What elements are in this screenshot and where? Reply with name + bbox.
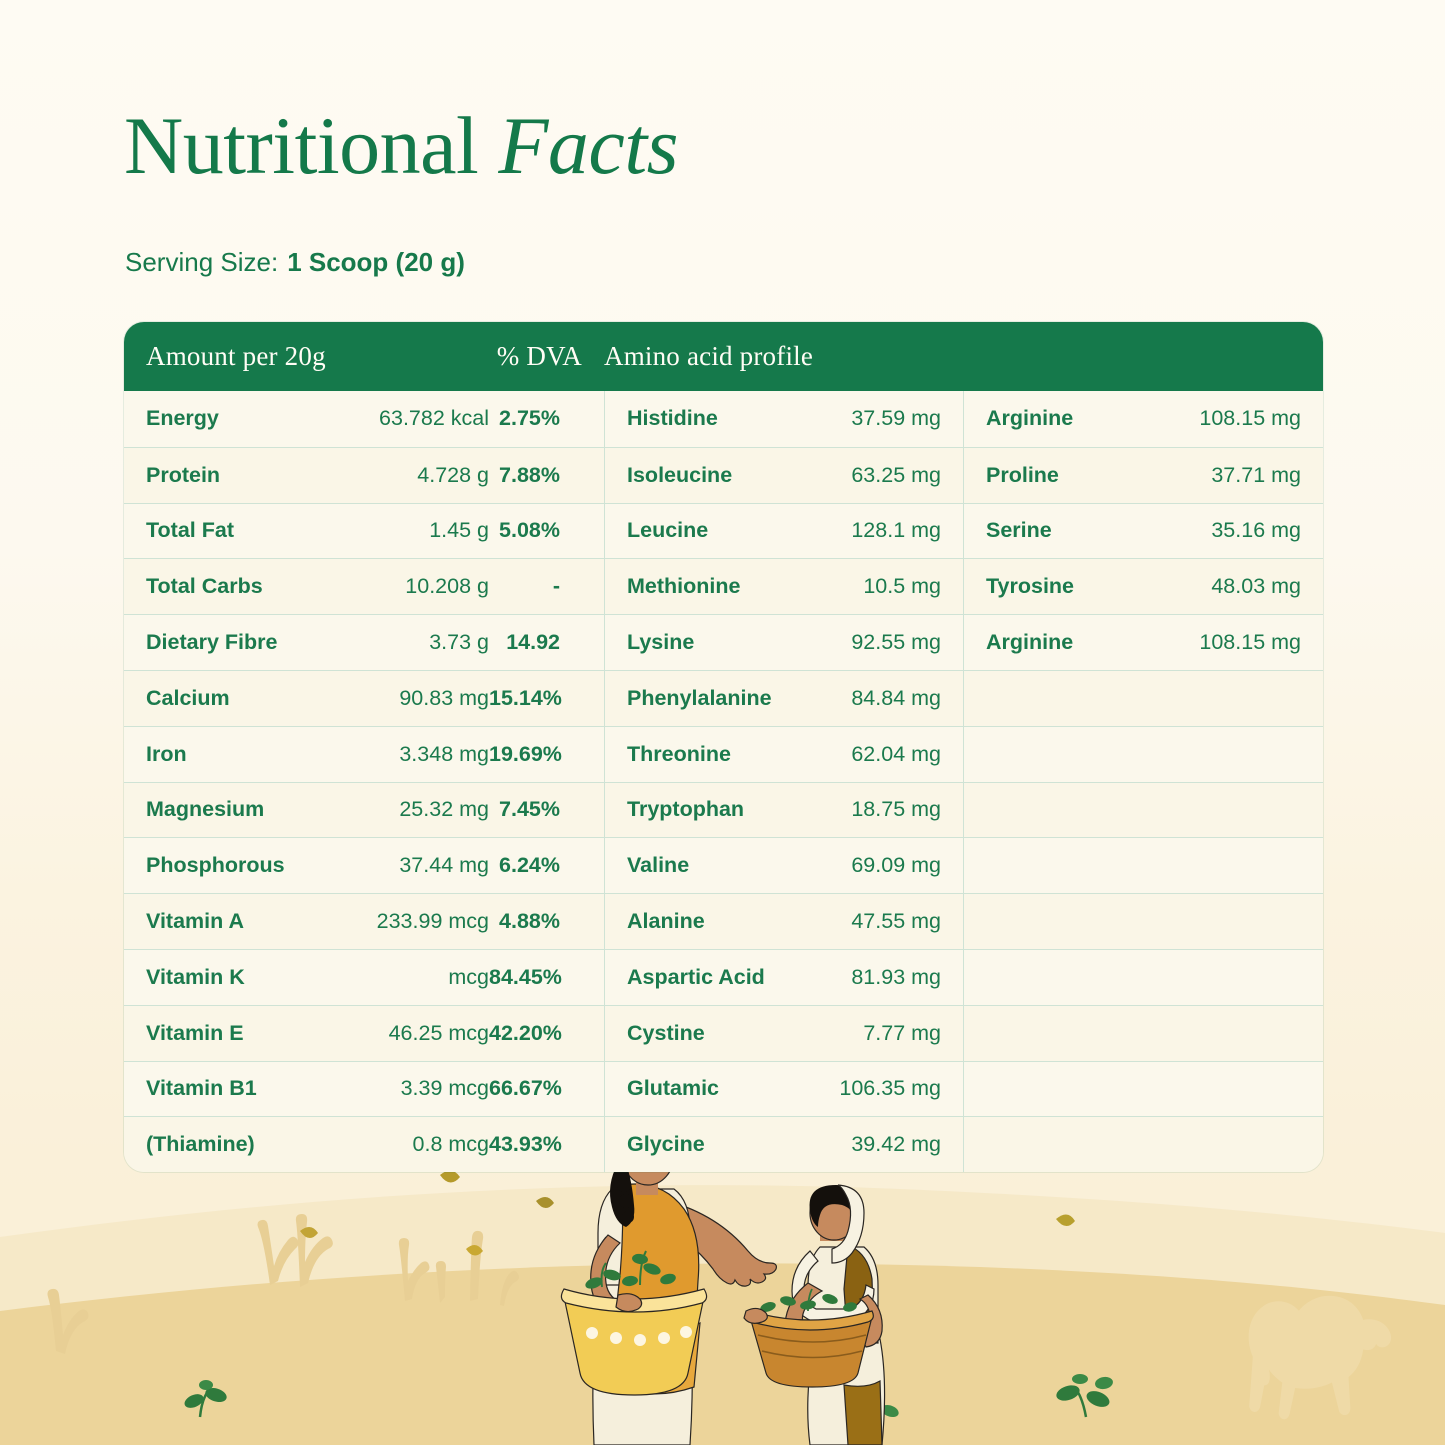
amino-name	[964, 1062, 1144, 1117]
nutrient-name: Energy	[124, 391, 339, 447]
nutrient-amount: 4.728 g	[339, 448, 489, 503]
amino-amount: 81.93 mg	[810, 950, 963, 1005]
nutrient-name: Vitamin B1	[124, 1062, 339, 1117]
column-header-amino: Amino acid profile	[582, 341, 1323, 372]
nutrient-dva: 5.08%	[489, 504, 582, 559]
amino-name: Isoleucine	[605, 448, 810, 503]
amino-name: Valine	[605, 838, 810, 893]
nutrient-dva: 7.45%	[489, 783, 582, 838]
amino-cell-group-1: Histidine37.59 mg	[604, 391, 963, 447]
page-title-main: Nutritional	[124, 100, 478, 191]
nutrient-amount: 46.25 mcg	[339, 1006, 489, 1061]
amino-name: Glutamic	[605, 1062, 810, 1117]
nutrient-cell-group: (Thiamine)0.8 mcg43.93%	[124, 1117, 604, 1172]
amino-cell-group-2	[963, 671, 1323, 726]
amino-name: Phenylalanine	[605, 671, 810, 726]
table-row: Total Carbs10.208 g-Methionine10.5 mgTyr…	[124, 558, 1323, 614]
amino-name: Proline	[964, 448, 1144, 503]
amino-name: Leucine	[605, 504, 810, 559]
table-row: Iron3.348 mg19.69%Threonine62.04 mg	[124, 726, 1323, 782]
serving-size-value: 1 Scoop (20 g)	[287, 247, 465, 277]
amino-name: Alanine	[605, 894, 810, 949]
amino-amount: 84.84 mg	[810, 671, 963, 726]
nutrient-name: Vitamin E	[124, 1006, 339, 1061]
page-title-italic: Facts	[498, 100, 678, 191]
nutrient-name: Dietary Fibre	[124, 615, 339, 670]
amino-name: Methionine	[605, 559, 810, 614]
amino-amount: 39.42 mg	[810, 1117, 963, 1172]
amino-cell-group-1: Valine69.09 mg	[604, 838, 963, 893]
amino-amount: 10.5 mg	[810, 559, 963, 614]
nutrient-amount: 3.348 mg	[339, 727, 489, 782]
amino-name: Tryptophan	[605, 783, 810, 838]
nutrient-dva: 19.69%	[489, 727, 582, 782]
amino-name	[964, 894, 1144, 949]
amino-amount: 7.77 mg	[810, 1006, 963, 1061]
table-row: Vitamin E46.25 mcg42.20%Cystine7.77 mg	[124, 1005, 1323, 1061]
amino-amount	[1144, 1062, 1323, 1117]
nutrient-amount: 3.39 mcg	[339, 1062, 489, 1117]
nutrient-dva: 66.67%	[489, 1062, 582, 1117]
nutrient-cell-group: Magnesium25.32 mg7.45%	[124, 783, 604, 838]
amino-amount	[1144, 1006, 1323, 1061]
nutrient-dva: 84.45%	[489, 950, 582, 1005]
amino-cell-group-1: Leucine128.1 mg	[604, 504, 963, 559]
amino-cell-group-2	[963, 1062, 1323, 1117]
nutrient-cell-group: Vitamin E46.25 mcg42.20%	[124, 1006, 604, 1061]
table-row: Vitamin B13.39 mcg66.67%Glutamic106.35 m…	[124, 1061, 1323, 1117]
amino-amount: 62.04 mg	[810, 727, 963, 782]
nutrient-amount: 37.44 mg	[339, 838, 489, 893]
amino-amount: 128.1 mg	[810, 504, 963, 559]
amino-amount	[1144, 783, 1323, 838]
amino-cell-group-2	[963, 950, 1323, 1005]
table-row: Protein4.728 g7.88%Isoleucine63.25 mgPro…	[124, 447, 1323, 503]
nutrient-cell-group: Phosphorous37.44 mg6.24%	[124, 838, 604, 893]
nutrient-cell-group: Vitamin B13.39 mcg66.67%	[124, 1062, 604, 1117]
amino-name: Serine	[964, 504, 1144, 559]
amino-name: Threonine	[605, 727, 810, 782]
amino-name: Arginine	[964, 391, 1144, 447]
nutrient-amount: 90.83 mg	[339, 671, 489, 726]
amino-name: Lysine	[605, 615, 810, 670]
amino-amount: 37.59 mg	[810, 391, 963, 447]
amino-cell-group-2: Proline37.71 mg	[963, 448, 1323, 503]
amino-cell-group-2: Arginine108.15 mg	[963, 615, 1323, 670]
nutrient-dva: 43.93%	[489, 1117, 582, 1172]
amino-name: Glycine	[605, 1117, 810, 1172]
amino-name: Arginine	[964, 615, 1144, 670]
nutrient-dva: 15.14%	[489, 671, 582, 726]
nutrient-amount: 10.208 g	[339, 559, 489, 614]
amino-amount	[1144, 838, 1323, 893]
amino-cell-group-1: Alanine47.55 mg	[604, 894, 963, 949]
nutrient-amount: 25.32 mg	[339, 783, 489, 838]
amino-amount: 35.16 mg	[1144, 504, 1323, 559]
amino-amount: 47.55 mg	[810, 894, 963, 949]
nutrient-name: Protein	[124, 448, 339, 503]
nutrient-amount: 0.8 mcg	[339, 1117, 489, 1172]
nutrient-cell-group: Calcium90.83 mg15.14%	[124, 671, 604, 726]
amino-name: Histidine	[605, 391, 810, 447]
nutrient-dva: 6.24%	[489, 838, 582, 893]
amino-name	[964, 671, 1144, 726]
nutrient-name: Phosphorous	[124, 838, 339, 893]
amino-amount	[1144, 671, 1323, 726]
nutrient-dva: 14.92	[489, 615, 582, 670]
amino-cell-group-2	[963, 1006, 1323, 1061]
amino-cell-group-1: Aspartic Acid81.93 mg	[604, 950, 963, 1005]
amino-cell-group-1: Lysine92.55 mg	[604, 615, 963, 670]
table-body: Energy63.782 kcal2.75%Histidine37.59 mgA…	[124, 391, 1323, 1172]
amino-name	[964, 727, 1144, 782]
nutrient-name: Total Carbs	[124, 559, 339, 614]
serving-size: Serving Size:1 Scoop (20 g)	[125, 247, 465, 278]
amino-name	[964, 838, 1144, 893]
table-row: Vitamin A233.99 mcg4.88%Alanine47.55 mg	[124, 893, 1323, 949]
amino-name	[964, 950, 1144, 1005]
amino-cell-group-2	[963, 894, 1323, 949]
nutrient-amount: 3.73 g	[339, 615, 489, 670]
nutrient-cell-group: Total Fat1.45 g5.08%	[124, 504, 604, 559]
nutrient-name: Vitamin K	[124, 950, 339, 1005]
nutrient-name: (Thiamine)	[124, 1117, 339, 1172]
amino-amount	[1144, 950, 1323, 1005]
nutrient-amount: 1.45 g	[339, 504, 489, 559]
amino-amount: 69.09 mg	[810, 838, 963, 893]
amino-amount: 108.15 mg	[1144, 391, 1323, 447]
nutrient-cell-group: Dietary Fibre3.73 g14.92	[124, 615, 604, 670]
table-row: Magnesium25.32 mg7.45%Tryptophan18.75 mg	[124, 782, 1323, 838]
amino-cell-group-2	[963, 838, 1323, 893]
column-header-amount: Amount per 20g	[124, 341, 454, 372]
amino-name	[964, 1006, 1144, 1061]
amino-amount: 18.75 mg	[810, 783, 963, 838]
amino-amount: 48.03 mg	[1144, 559, 1323, 614]
nutrient-name: Vitamin A	[124, 894, 339, 949]
amino-cell-group-2	[963, 727, 1323, 782]
serving-size-label: Serving Size:	[125, 247, 278, 277]
nutrient-name: Total Fat	[124, 504, 339, 559]
nutrient-name: Magnesium	[124, 783, 339, 838]
nutrient-amount: 233.99 mcg	[339, 894, 489, 949]
amino-cell-group-2: Serine35.16 mg	[963, 504, 1323, 559]
amino-amount: 108.15 mg	[1144, 615, 1323, 670]
nutrient-dva: 7.88%	[489, 448, 582, 503]
table-row: (Thiamine)0.8 mcg43.93%Glycine39.42 mg	[124, 1116, 1323, 1172]
amino-cell-group-1: Glycine39.42 mg	[604, 1117, 963, 1172]
page-title: Nutritional Facts	[124, 105, 678, 187]
amino-amount: 63.25 mg	[810, 448, 963, 503]
amino-amount: 106.35 mg	[810, 1062, 963, 1117]
nutrient-amount: 63.782 kcal	[339, 391, 489, 447]
nutrition-table: Amount per 20g % DVA Amino acid profile …	[124, 322, 1323, 1172]
amino-amount	[1144, 894, 1323, 949]
amino-cell-group-1: Threonine62.04 mg	[604, 727, 963, 782]
table-row: Phosphorous37.44 mg6.24%Valine69.09 mg	[124, 837, 1323, 893]
nutrient-cell-group: Vitamin Kmcg84.45%	[124, 950, 604, 1005]
table-row: Energy63.782 kcal2.75%Histidine37.59 mgA…	[124, 391, 1323, 447]
amino-name: Tyrosine	[964, 559, 1144, 614]
amino-cell-group-1: Phenylalanine84.84 mg	[604, 671, 963, 726]
table-header-row: Amount per 20g % DVA Amino acid profile	[124, 322, 1323, 391]
amino-name: Cystine	[605, 1006, 810, 1061]
nutrient-name: Iron	[124, 727, 339, 782]
amino-cell-group-1: Isoleucine63.25 mg	[604, 448, 963, 503]
nutrient-cell-group: Energy63.782 kcal2.75%	[124, 391, 604, 447]
nutrient-dva: -	[489, 559, 582, 614]
nutrient-cell-group: Iron3.348 mg19.69%	[124, 727, 604, 782]
nutrient-cell-group: Total Carbs10.208 g-	[124, 559, 604, 614]
amino-amount: 37.71 mg	[1144, 448, 1323, 503]
table-row: Total Fat1.45 g5.08%Leucine128.1 mgSerin…	[124, 503, 1323, 559]
nutrient-cell-group: Vitamin A233.99 mcg4.88%	[124, 894, 604, 949]
nutrient-cell-group: Protein4.728 g7.88%	[124, 448, 604, 503]
nutrient-dva: 4.88%	[489, 894, 582, 949]
amino-cell-group-1: Methionine10.5 mg	[604, 559, 963, 614]
amino-cell-group-1: Tryptophan18.75 mg	[604, 783, 963, 838]
amino-cell-group-2	[963, 783, 1323, 838]
amino-name	[964, 783, 1144, 838]
amino-name: Aspartic Acid	[605, 950, 810, 1005]
amino-cell-group-1: Glutamic106.35 mg	[604, 1062, 963, 1117]
column-header-dva: % DVA	[454, 341, 582, 372]
amino-cell-group-2	[963, 1117, 1323, 1172]
amino-cell-group-2: Arginine108.15 mg	[963, 391, 1323, 447]
table-row: Vitamin Kmcg84.45%Aspartic Acid81.93 mg	[124, 949, 1323, 1005]
nutrient-dva: 2.75%	[489, 391, 582, 447]
dune-front	[0, 1263, 1445, 1445]
amino-cell-group-1: Cystine7.77 mg	[604, 1006, 963, 1061]
nutrient-amount: mcg	[339, 950, 489, 1005]
amino-cell-group-2: Tyrosine48.03 mg	[963, 559, 1323, 614]
table-row: Dietary Fibre3.73 g14.92Lysine92.55 mgAr…	[124, 614, 1323, 670]
amino-amount	[1144, 1117, 1323, 1172]
amino-amount: 92.55 mg	[810, 615, 963, 670]
nutrient-name: Calcium	[124, 671, 339, 726]
nutrient-dva: 42.20%	[489, 1006, 582, 1061]
table-row: Calcium90.83 mg15.14%Phenylalanine84.84 …	[124, 670, 1323, 726]
amino-name	[964, 1117, 1144, 1172]
amino-amount	[1144, 727, 1323, 782]
